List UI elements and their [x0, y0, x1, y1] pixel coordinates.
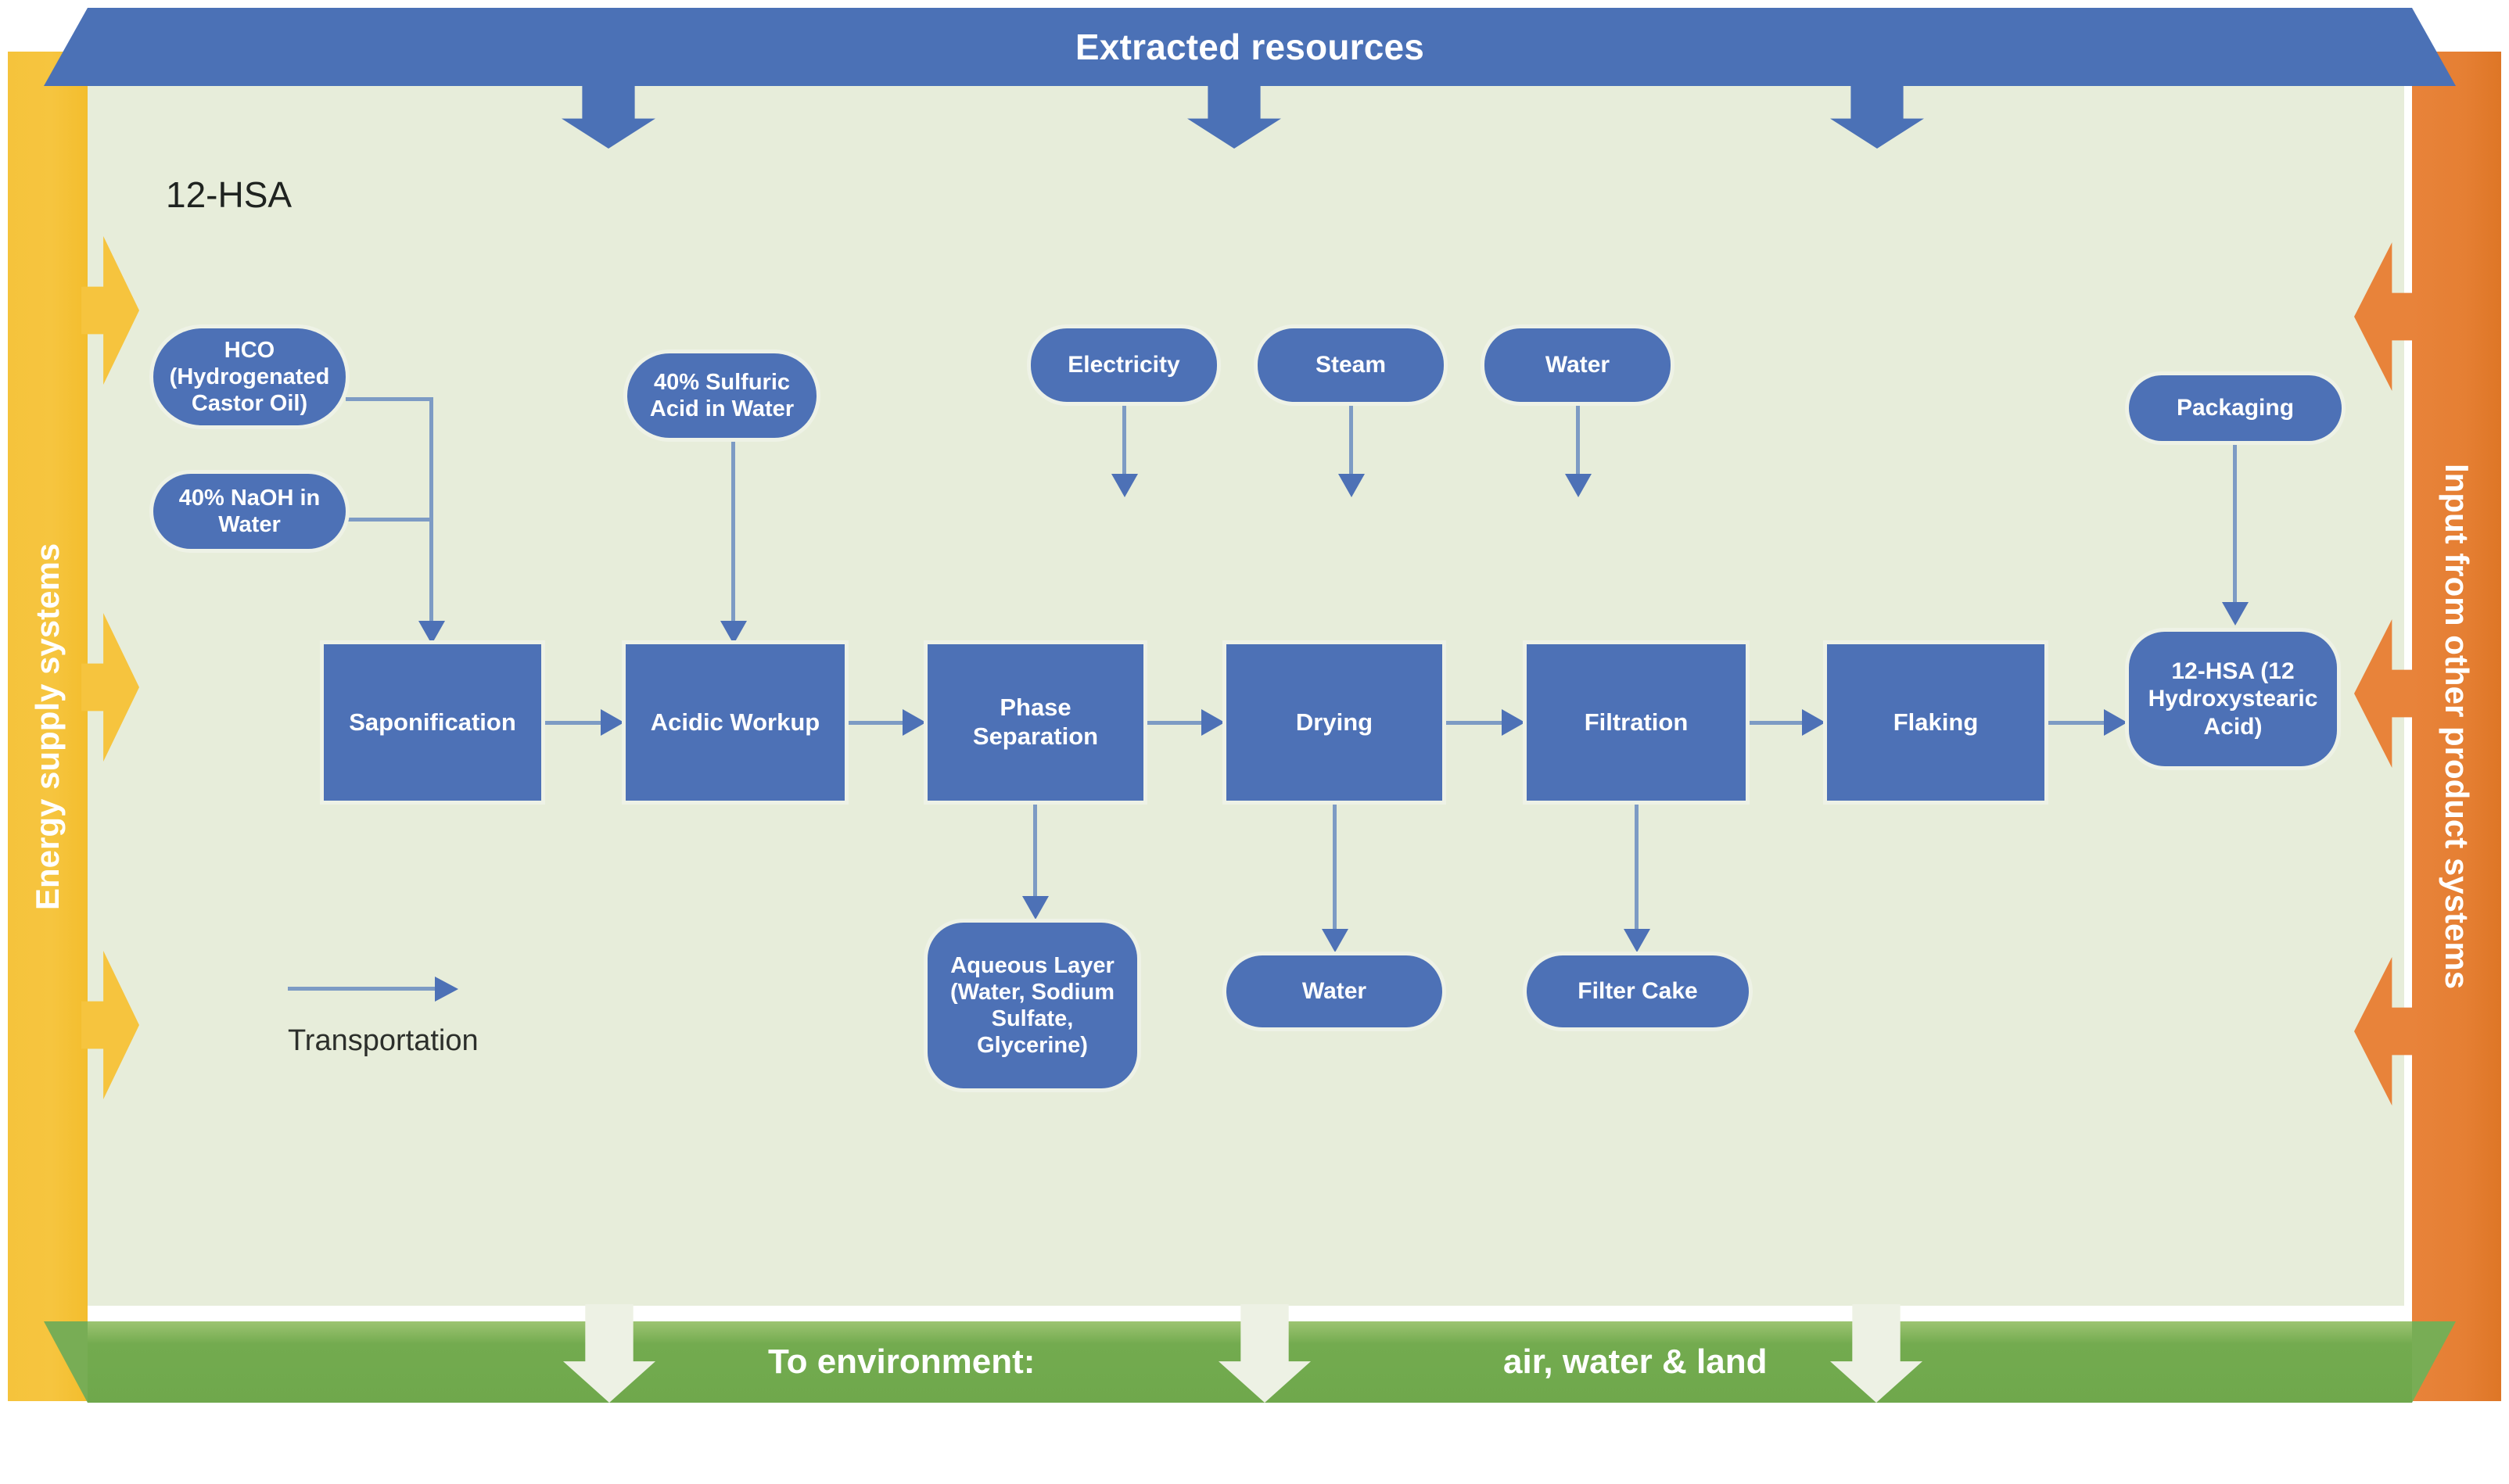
connector-filtration-to-flaking-arrowhead	[1802, 709, 1825, 736]
input-node-water[interactable]: Water	[1484, 328, 1671, 402]
bottom-banner-left-bevel	[44, 1321, 88, 1403]
connector-sap-to-acidic-arrowhead	[601, 709, 624, 736]
connector-steam-vertical	[1349, 402, 1353, 477]
process-step-saponification[interactable]: Saponification	[324, 644, 541, 801]
connector-electricity-arrowhead	[1111, 474, 1138, 497]
top-banner-right-bevel	[2412, 8, 2456, 86]
connector-filtration-to-cake	[1635, 801, 1639, 932]
process-flow-diagram: Energy supply systems Input from other p…	[0, 0, 2509, 1484]
connector-phase-to-drying	[1143, 721, 1203, 725]
legend-transport-label: Transportation	[288, 1024, 479, 1058]
connector-naoh-horizontal	[346, 518, 433, 522]
process-step-filtration[interactable]: Filtration	[1527, 644, 1746, 801]
connector-hco-horizontal	[346, 397, 433, 401]
connector-acidic-to-phase-arrowhead	[903, 709, 926, 736]
input-node-sulfuric-acid[interactable]: 40% Sulfuric Acid in Water	[627, 353, 817, 438]
product-node-12-hsa[interactable]: 12-HSA (12 Hydroxystearic Acid)	[2129, 632, 2337, 766]
connector-phase-to-aqueous	[1033, 801, 1037, 899]
extracted-resources-banner: Extracted resources	[88, 8, 2412, 86]
process-step-acidic-workup[interactable]: Acidic Workup	[626, 644, 845, 801]
connector-flaking-to-product-arrowhead	[2104, 709, 2127, 736]
connector-water-input-arrowhead	[1565, 474, 1592, 497]
connector-acidic-workup-arrowhead	[720, 621, 747, 644]
connector-sap-to-acidic	[541, 721, 602, 725]
connector-phase-to-aqueous-arrowhead	[1022, 896, 1049, 919]
page-title: 12-HSA	[166, 174, 292, 216]
to-environment-label: To environment:	[768, 1342, 1035, 1382]
process-step-flaking[interactable]: Flaking	[1827, 644, 2044, 801]
legend-transport-arrow-icon	[435, 977, 458, 1002]
legend-transport-line	[288, 987, 435, 991]
output-node-water[interactable]: Water	[1226, 955, 1442, 1027]
connector-hco-vertical	[429, 397, 433, 622]
connector-flaking-to-product	[2044, 721, 2105, 725]
output-node-aqueous-layer[interactable]: Aqueous Layer (Water, Sodium Sulfate, Gl…	[928, 923, 1137, 1088]
connector-drying-to-filtration	[1442, 721, 1503, 725]
input-node-steam[interactable]: Steam	[1258, 328, 1444, 402]
connector-drying-to-filtration-arrowhead	[1502, 709, 1525, 736]
connector-drying-to-water	[1333, 801, 1337, 932]
bottom-banner-right-bevel	[2412, 1321, 2456, 1403]
connector-packaging-vertical	[2233, 441, 2237, 604]
connector-filtration-to-cake-arrowhead	[1624, 929, 1650, 952]
environment-media-label: air, water & land	[1503, 1342, 1767, 1382]
input-other-systems-label: Input from other product systems	[2412, 52, 2501, 1401]
input-node-naoh[interactable]: 40% NaOH in Water	[153, 474, 346, 549]
connector-electricity-vertical	[1122, 402, 1126, 477]
top-banner-left-bevel	[44, 8, 88, 86]
connector-sulfuric-vertical	[731, 438, 735, 622]
connector-steam-arrowhead	[1338, 474, 1365, 497]
connector-phase-to-drying-arrowhead	[1201, 709, 1225, 736]
process-step-phase-separation[interactable]: Phase Separation	[928, 644, 1143, 801]
output-node-filter-cake[interactable]: Filter Cake	[1527, 955, 1749, 1027]
input-node-packaging[interactable]: Packaging	[2129, 375, 2342, 441]
connector-water-input-vertical	[1576, 402, 1580, 477]
process-step-drying[interactable]: Drying	[1226, 644, 1442, 801]
connector-packaging-arrowhead	[2222, 602, 2249, 626]
connector-filtration-to-flaking	[1746, 721, 1804, 725]
connector-acidic-to-phase	[845, 721, 904, 725]
input-node-electricity[interactable]: Electricity	[1031, 328, 1217, 402]
connector-saponification-arrowhead	[418, 621, 445, 644]
connector-drying-to-water-arrowhead	[1322, 929, 1348, 952]
energy-supply-label: Energy supply systems	[8, 52, 88, 1401]
input-node-hco[interactable]: HCO (Hydrogenated Castor Oil)	[153, 328, 346, 425]
